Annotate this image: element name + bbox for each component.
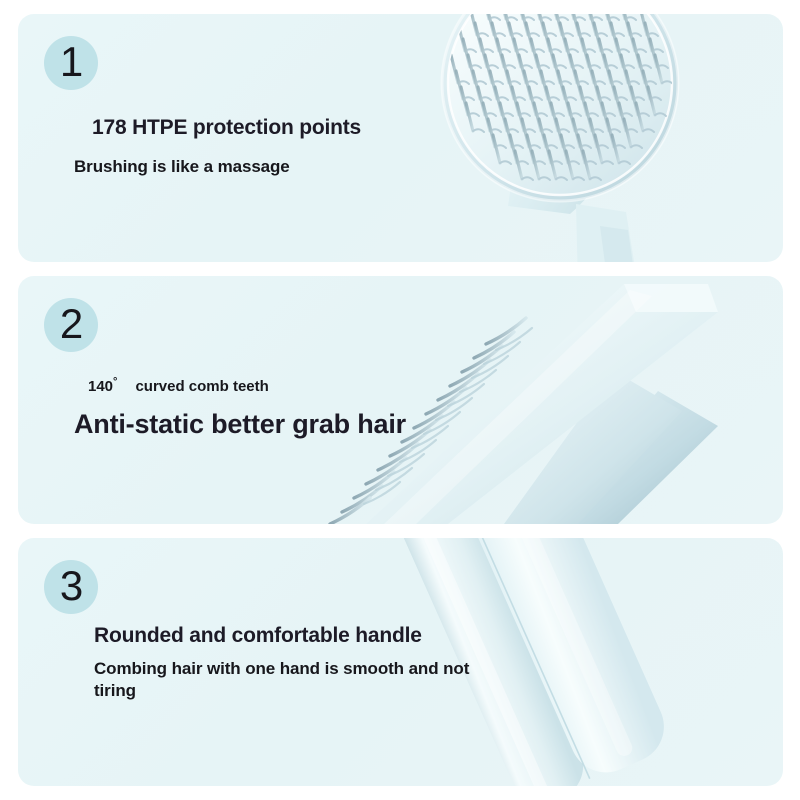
feature-text-2: 140°curved comb teeth Anti-static better… <box>74 376 406 440</box>
feature-subline-3: Combing hair with one hand is smooth and… <box>94 658 509 703</box>
step-number-badge-2: 2 <box>44 298 98 352</box>
step-number-1: 1 <box>60 41 82 83</box>
feature-card-3: 3 Rounded and comfortable handle Combing… <box>18 538 783 786</box>
feature-headline-2: Anti-static better grab hair <box>74 409 406 440</box>
degree-symbol: ° <box>113 376 117 388</box>
feature-subline-1: Brushing is like a massage <box>74 157 361 177</box>
feature-card-2: 2 140°curved comb teeth Anti-static bett… <box>18 276 783 524</box>
feature-text-1: 178 HTPE protection points Brushing is l… <box>74 116 361 177</box>
feature-headline-3: Rounded and comfortable handle <box>94 624 509 648</box>
feature-eyebrow-2: 140°curved comb teeth <box>88 376 406 395</box>
comb-angle-label: curved comb teeth <box>135 378 268 395</box>
feature-text-3: Rounded and comfortable handle Combing h… <box>74 624 509 703</box>
comb-angle-value: 140 <box>88 378 113 395</box>
feature-card-1: 1 178 HTPE protection points Brushing is… <box>18 14 783 262</box>
step-number-badge-1: 1 <box>44 36 98 90</box>
step-number-badge-3: 3 <box>44 560 98 614</box>
product-feature-infographic: 1 178 HTPE protection points Brushing is… <box>0 0 800 800</box>
feature-headline-1: 178 HTPE protection points <box>92 116 361 140</box>
step-number-2: 2 <box>60 303 82 345</box>
step-number-3: 3 <box>60 565 82 607</box>
